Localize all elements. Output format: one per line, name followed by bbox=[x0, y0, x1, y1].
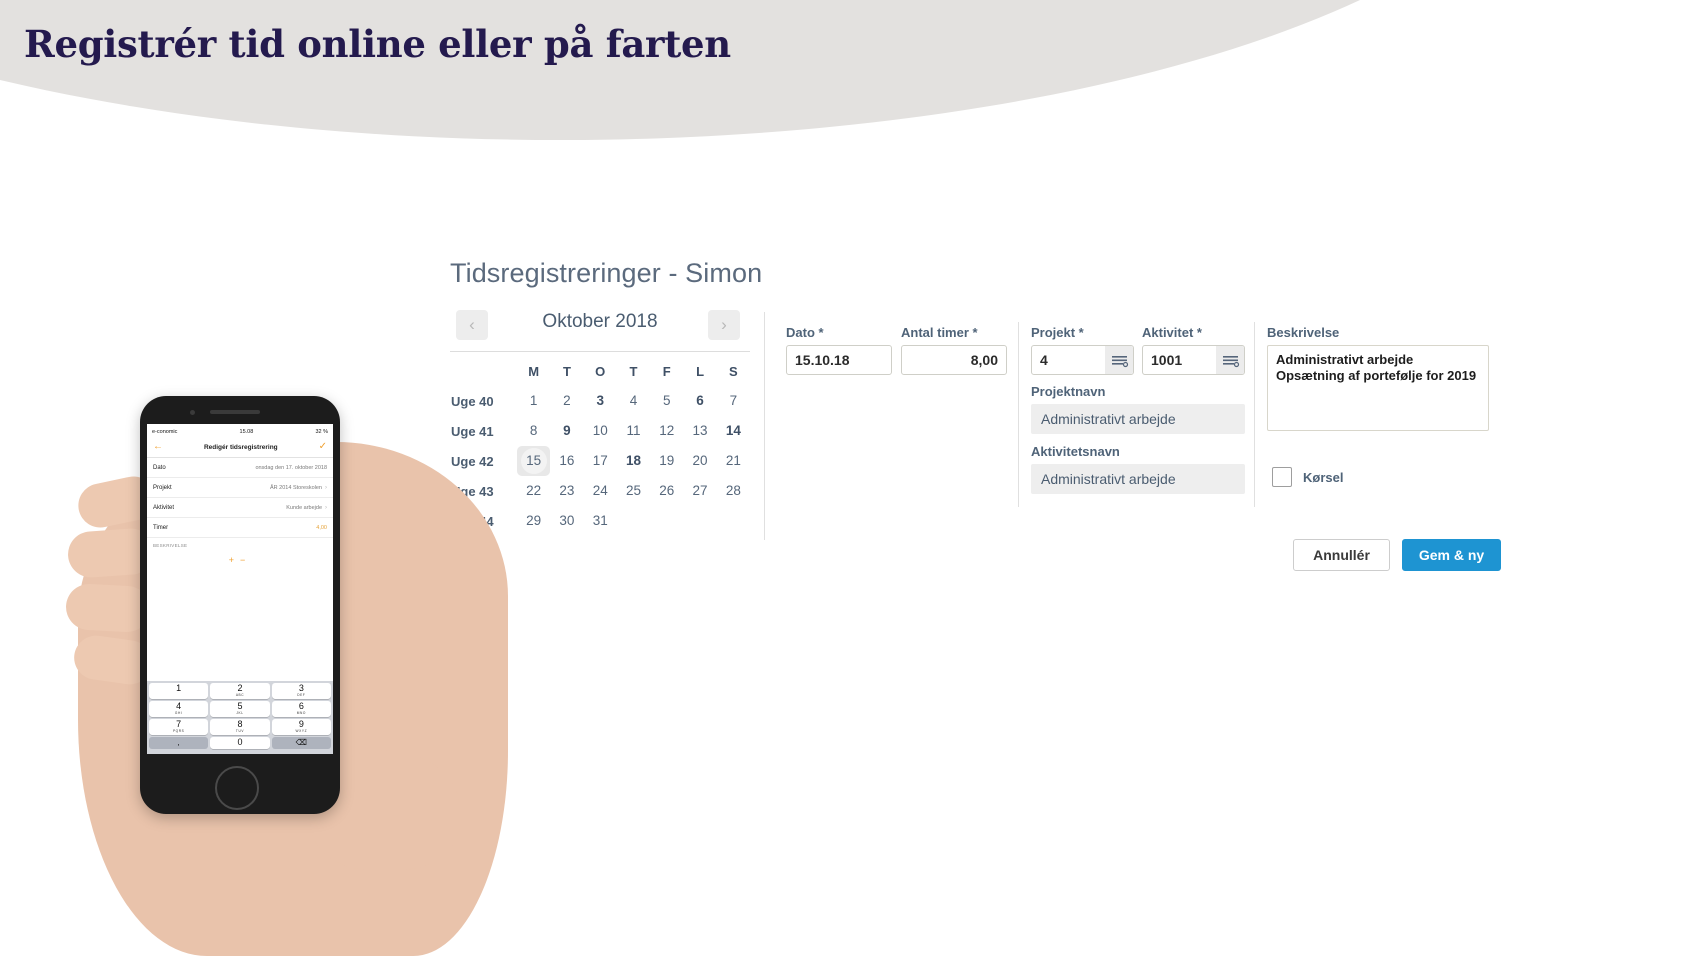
calendar-day-cell[interactable]: 14 bbox=[717, 416, 750, 446]
calendar-day-number: 23 bbox=[559, 478, 574, 504]
arrow-left-icon[interactable]: ← bbox=[153, 442, 163, 452]
smartphone-device: e-conomic 15.08 32 % ← Redigér tidsregis… bbox=[140, 396, 340, 814]
keypad-key-letters: TUV bbox=[210, 729, 269, 733]
calendar-day-cell[interactable]: 18 bbox=[617, 446, 650, 476]
keypad-key-number: 4 bbox=[149, 702, 208, 711]
phone-row-value: ÅR 2014 Storeskolen bbox=[270, 485, 322, 491]
divider-hours-project bbox=[1018, 322, 1019, 507]
keypad-key-number: ⌫ bbox=[272, 738, 331, 747]
chevron-right-icon: › bbox=[325, 505, 327, 511]
calendar-day-cell[interactable]: 19 bbox=[650, 446, 683, 476]
field-group-aktivitetsnavn: Aktivitetsnavn Administrativt arbejde bbox=[1031, 444, 1245, 494]
phone-screen: e-conomic 15.08 32 % ← Redigér tidsregis… bbox=[147, 424, 333, 754]
phone-row-value-wrap: Kunde arbejde› bbox=[286, 505, 327, 511]
keypad-key-number: 1 bbox=[149, 684, 208, 693]
keypad-key[interactable]: 5JKL bbox=[210, 701, 269, 717]
phone-numeric-keypad[interactable]: 12ABC3DEF4GHI5JKL6MNO7PQRS8TUV9WXYZ,0⌫ bbox=[147, 681, 333, 754]
finger bbox=[65, 583, 151, 633]
calendar-divider bbox=[450, 351, 750, 352]
keypad-key[interactable]: 8TUV bbox=[210, 719, 269, 735]
calendar-day-number: 18 bbox=[626, 448, 641, 474]
calendar-day-cell[interactable]: 3 bbox=[584, 386, 617, 416]
calendar-day-number: 28 bbox=[726, 478, 741, 504]
korsel-label: Kørsel bbox=[1303, 470, 1343, 485]
banner-curved-shape bbox=[0, 0, 1560, 140]
phone-form-row[interactable]: Timer4,00 bbox=[147, 518, 333, 538]
calendar-day-cell[interactable]: 11 bbox=[617, 416, 650, 446]
calendar-day-number: 19 bbox=[659, 448, 674, 474]
calendar-day-cell[interactable]: 17 bbox=[584, 446, 617, 476]
calendar-day-number: 1 bbox=[530, 388, 538, 414]
calendar-day-number: 7 bbox=[730, 388, 738, 414]
calendar-day-cell[interactable]: 10 bbox=[584, 416, 617, 446]
calendar-day-number: 5 bbox=[663, 388, 671, 414]
keypad-row: ,0⌫ bbox=[149, 737, 331, 749]
calendar-day-cell[interactable]: 25 bbox=[617, 476, 650, 506]
antal-timer-label: Antal timer * bbox=[901, 325, 1007, 340]
phone-form-rows: Datoonsdag den 17. oktober 2018ProjektÅR… bbox=[147, 458, 333, 538]
chevron-right-icon: › bbox=[325, 485, 327, 491]
calendar-day-cell[interactable]: 13 bbox=[683, 416, 716, 446]
field-group-projekt: Projekt * bbox=[1031, 325, 1134, 375]
home-button[interactable] bbox=[215, 766, 259, 810]
divider-project-description bbox=[1254, 322, 1255, 507]
korsel-checkbox[interactable] bbox=[1272, 467, 1292, 487]
page-title: Tidsregistreringer - Simon bbox=[450, 258, 762, 289]
keypad-key[interactable]: , bbox=[149, 737, 208, 749]
keypad-key-number: 5 bbox=[210, 702, 269, 711]
calendar-day-cell[interactable]: 26 bbox=[650, 476, 683, 506]
calendar-day-cell[interactable]: 16 bbox=[550, 446, 583, 476]
calendar-day-number: 9 bbox=[563, 418, 571, 444]
keypad-row: 4GHI5JKL6MNO bbox=[149, 701, 331, 717]
phone-row-label: Timer bbox=[153, 525, 168, 531]
calendar-day-number: 20 bbox=[693, 448, 708, 474]
phone-form-row[interactable]: AktivitetKunde arbejde› bbox=[147, 498, 333, 518]
save-and-new-button[interactable]: Gem & ny bbox=[1402, 539, 1501, 571]
phone-row-value-wrap: ÅR 2014 Storeskolen› bbox=[270, 485, 327, 491]
calendar-day-cell[interactable]: 12 bbox=[650, 416, 683, 446]
field-group-aktivitet: Aktivitet * bbox=[1142, 325, 1245, 375]
phone-app-title: Redigér tidsregistrering bbox=[204, 444, 278, 451]
calendar-empty-cell bbox=[617, 506, 650, 536]
calendar-day-cell[interactable]: 4 bbox=[617, 386, 650, 416]
calendar-day-cell[interactable]: 21 bbox=[717, 446, 750, 476]
calendar-day-cell[interactable]: 7 bbox=[717, 386, 750, 416]
calendar-day-number: 26 bbox=[659, 478, 674, 504]
calendar-day-cell[interactable]: 24 bbox=[584, 476, 617, 506]
keypad-key[interactable]: 7PQRS bbox=[149, 719, 208, 735]
keypad-key-number: 9 bbox=[272, 720, 331, 729]
keypad-key-letters: WXYZ bbox=[272, 729, 331, 733]
keypad-key-number: 0 bbox=[210, 738, 269, 747]
weekday-header: F bbox=[650, 356, 683, 386]
keypad-key-number: 3 bbox=[272, 684, 331, 693]
dato-input[interactable] bbox=[786, 345, 892, 375]
projekt-input-wrapper bbox=[1031, 345, 1134, 375]
phone-row-label: Projekt bbox=[153, 485, 172, 491]
cancel-button[interactable]: Annullér bbox=[1293, 539, 1390, 571]
weekday-header: L bbox=[683, 356, 716, 386]
calendar-day-cell[interactable]: 28 bbox=[717, 476, 750, 506]
calendar-day-cell[interactable]: 9 bbox=[550, 416, 583, 446]
calendar-day-number: 12 bbox=[659, 418, 674, 444]
calendar-empty-cell bbox=[683, 506, 716, 536]
dato-label: Dato * bbox=[786, 325, 892, 340]
keypad-key[interactable]: 6MNO bbox=[272, 701, 331, 717]
calendar-day-number: 31 bbox=[593, 508, 608, 534]
weekday-header: O bbox=[584, 356, 617, 386]
calendar-day-number: 16 bbox=[559, 448, 574, 474]
calendar-day-cell[interactable]: 5 bbox=[650, 386, 683, 416]
calendar-day-number: 6 bbox=[696, 388, 704, 414]
lookup-list-icon[interactable] bbox=[1216, 346, 1244, 374]
keypad-key-letters: JKL bbox=[210, 711, 269, 715]
field-group-dato: Dato * bbox=[786, 325, 892, 375]
phone-description-header: BESKRIVELSE bbox=[147, 538, 333, 551]
aktivitet-input-wrapper bbox=[1142, 345, 1245, 375]
phone-row-value: 4,00 bbox=[316, 525, 327, 531]
phone-row-value-wrap: onsdag den 17. oktober 2018 bbox=[255, 465, 327, 471]
keypad-key[interactable]: 1 bbox=[149, 683, 208, 699]
calendar-month-label: Oktober 2018 bbox=[450, 311, 750, 333]
calendar-day-number: 8 bbox=[530, 418, 538, 444]
calendar-empty-cell bbox=[717, 506, 750, 536]
calendar-day-number: 14 bbox=[726, 418, 741, 444]
calendar-day-number: 2 bbox=[563, 388, 571, 414]
calendar-day-cell[interactable]: 6 bbox=[683, 386, 716, 416]
keypad-key[interactable]: ⌫ bbox=[272, 737, 331, 749]
keypad-key-letters: MNO bbox=[272, 711, 331, 715]
calendar-day-cell[interactable]: 23 bbox=[550, 476, 583, 506]
korsel-checkbox-group[interactable]: Kørsel bbox=[1272, 467, 1343, 487]
calendar-day-number: 21 bbox=[726, 448, 741, 474]
keypad-key-number: 8 bbox=[210, 720, 269, 729]
keypad-key-number: 6 bbox=[272, 702, 331, 711]
calendar-header: ‹ Oktober 2018 › bbox=[450, 305, 750, 345]
phone-form-row[interactable]: ProjektÅR 2014 Storeskolen› bbox=[147, 478, 333, 498]
keypad-key[interactable]: 4GHI bbox=[149, 701, 208, 717]
status-carrier: e-conomic bbox=[152, 429, 177, 435]
front-camera-icon bbox=[190, 410, 195, 415]
plus-icon[interactable]: + bbox=[229, 555, 240, 565]
checkmark-icon[interactable]: ✓ bbox=[319, 442, 327, 452]
phone-in-hand-photo: e-conomic 15.08 32 % ← Redigér tidsregis… bbox=[60, 380, 530, 956]
keypad-key[interactable]: 2ABC bbox=[210, 683, 269, 699]
earpiece-speaker bbox=[210, 410, 260, 414]
lookup-list-icon[interactable] bbox=[1105, 346, 1133, 374]
calendar-day-number: 4 bbox=[630, 388, 638, 414]
keypad-key-letters: DEF bbox=[272, 693, 331, 697]
beskrivelse-label: Beskrivelse bbox=[1267, 325, 1489, 340]
beskrivelse-textarea[interactable]: Administrativt arbejde Opsætning af port… bbox=[1267, 345, 1489, 431]
field-group-antal-timer: Antal timer * bbox=[901, 325, 1007, 375]
keypad-key-number: 7 bbox=[149, 720, 208, 729]
keypad-key[interactable]: 3DEF bbox=[272, 683, 331, 699]
calendar-day-number: 25 bbox=[626, 478, 641, 504]
keypad-key-letters: GHI bbox=[149, 711, 208, 715]
phone-row-value-wrap: 4,00 bbox=[316, 525, 327, 531]
calendar-day-number: 27 bbox=[693, 478, 708, 504]
aktivitetsnavn-value: Administrativt arbejde bbox=[1031, 464, 1245, 494]
calendar-day-number: 11 bbox=[626, 418, 640, 444]
calendar-day-number: 30 bbox=[559, 508, 574, 534]
weekday-header: T bbox=[617, 356, 650, 386]
phone-row-value: Kunde arbejde bbox=[286, 505, 322, 511]
status-battery: 32 % bbox=[315, 429, 328, 435]
divider-calendar-form bbox=[764, 312, 765, 540]
calendar-day-cell[interactable]: 20 bbox=[683, 446, 716, 476]
weekday-header: T bbox=[550, 356, 583, 386]
phone-row-label: Aktivitet bbox=[153, 505, 174, 511]
field-group-projektnavn: Projektnavn Administrativt arbejde bbox=[1031, 384, 1245, 434]
projekt-label: Projekt * bbox=[1031, 325, 1134, 340]
antal-timer-input[interactable] bbox=[901, 345, 1007, 375]
minus-icon[interactable]: − bbox=[240, 555, 251, 565]
header-banner: Registrér tid online eller på farten bbox=[0, 0, 1700, 160]
field-group-beskrivelse: Beskrivelse Administrativt arbejde Opsæt… bbox=[1267, 325, 1489, 436]
keypad-key-letters: PQRS bbox=[149, 729, 208, 733]
aktivitetsnavn-label: Aktivitetsnavn bbox=[1031, 444, 1245, 459]
phone-row-value: onsdag den 17. oktober 2018 bbox=[255, 465, 327, 471]
keypad-row: 7PQRS8TUV9WXYZ bbox=[149, 719, 331, 735]
calendar-day-cell[interactable]: 31 bbox=[584, 506, 617, 536]
keypad-row: 12ABC3DEF bbox=[149, 683, 331, 699]
calendar-day-cell[interactable]: 2 bbox=[550, 386, 583, 416]
phone-form-row[interactable]: Datoonsdag den 17. oktober 2018 bbox=[147, 458, 333, 478]
calendar-day-number: 10 bbox=[593, 418, 608, 444]
page-headline: Registrér tid online eller på farten bbox=[24, 22, 731, 66]
phone-status-bar: e-conomic 15.08 32 % bbox=[147, 424, 333, 437]
calendar-day-number: 17 bbox=[593, 448, 608, 474]
status-time: 15.08 bbox=[240, 429, 254, 435]
keypad-key-number: , bbox=[149, 738, 208, 747]
calendar-empty-cell bbox=[650, 506, 683, 536]
keypad-key-number: 2 bbox=[210, 684, 269, 693]
calendar-day-number: 24 bbox=[593, 478, 608, 504]
calendar-day-cell[interactable]: 27 bbox=[683, 476, 716, 506]
keypad-key[interactable]: 0 bbox=[210, 737, 269, 749]
projektnavn-label: Projektnavn bbox=[1031, 384, 1245, 399]
keypad-key[interactable]: 9WXYZ bbox=[272, 719, 331, 735]
phone-row-label: Dato bbox=[153, 465, 166, 471]
calendar-day-number: 3 bbox=[596, 388, 604, 414]
chevron-right-icon[interactable]: › bbox=[708, 310, 740, 340]
calendar-day-cell[interactable]: 30 bbox=[550, 506, 583, 536]
weekday-header: S bbox=[717, 356, 750, 386]
phone-app-bar: ← Redigér tidsregistrering ✓ bbox=[147, 437, 333, 458]
projektnavn-value: Administrativt arbejde bbox=[1031, 404, 1245, 434]
aktivitet-label: Aktivitet * bbox=[1142, 325, 1245, 340]
phone-plus-minus-row[interactable]: +− bbox=[147, 551, 333, 569]
calendar-day-number: 13 bbox=[693, 418, 708, 444]
keypad-key-letters: ABC bbox=[210, 693, 269, 697]
